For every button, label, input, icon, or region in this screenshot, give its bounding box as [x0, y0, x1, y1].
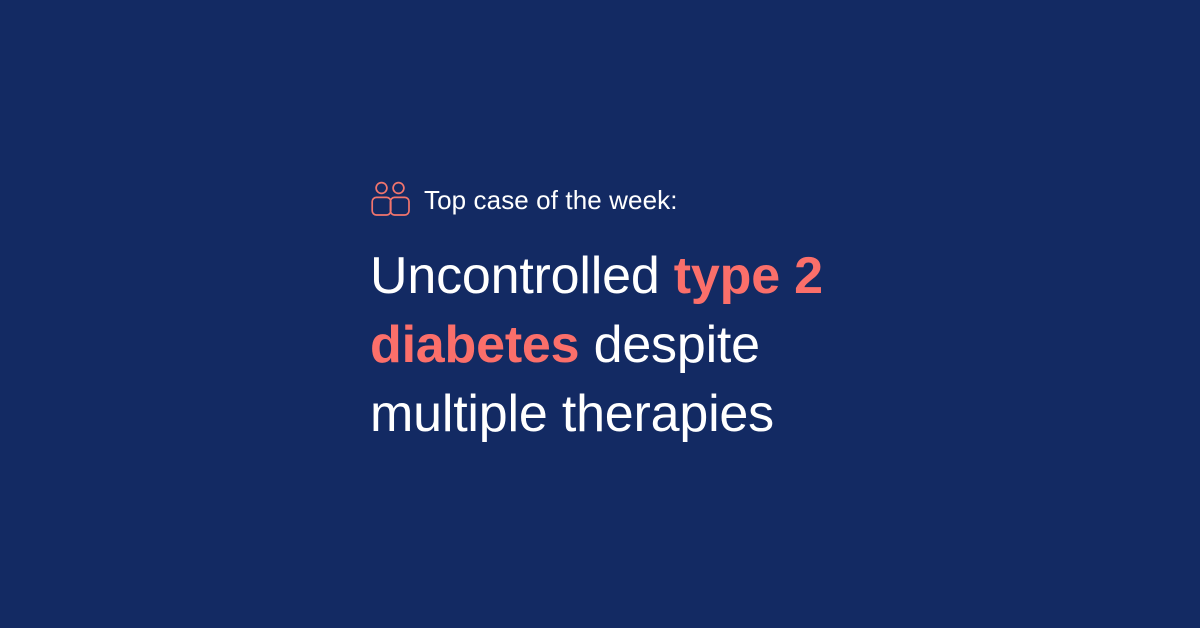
headline-line-3: multiple therapies	[370, 380, 840, 449]
headline-segment-plain: Uncontrolled	[370, 247, 674, 305]
headline-line-2: diabetes despite	[370, 311, 840, 380]
two-people-icon	[370, 179, 412, 221]
eyebrow-label: Top case of the week:	[424, 185, 678, 215]
page-title: Uncontrolled type 2 diabetes despite mul…	[370, 242, 840, 449]
card-content-block: Top case of the week: Uncontrolled type …	[370, 176, 930, 449]
headline-line-1: Uncontrolled type 2	[370, 242, 840, 311]
headline-segment-accent: type 2	[674, 247, 823, 305]
headline-segment-plain: despite	[579, 316, 760, 374]
headline-segment-plain: multiple therapies	[370, 385, 774, 443]
social-share-card: Top case of the week: Uncontrolled type …	[0, 0, 1200, 628]
headline-segment-accent: diabetes	[370, 316, 579, 374]
eyebrow-row: Top case of the week:	[370, 176, 930, 224]
